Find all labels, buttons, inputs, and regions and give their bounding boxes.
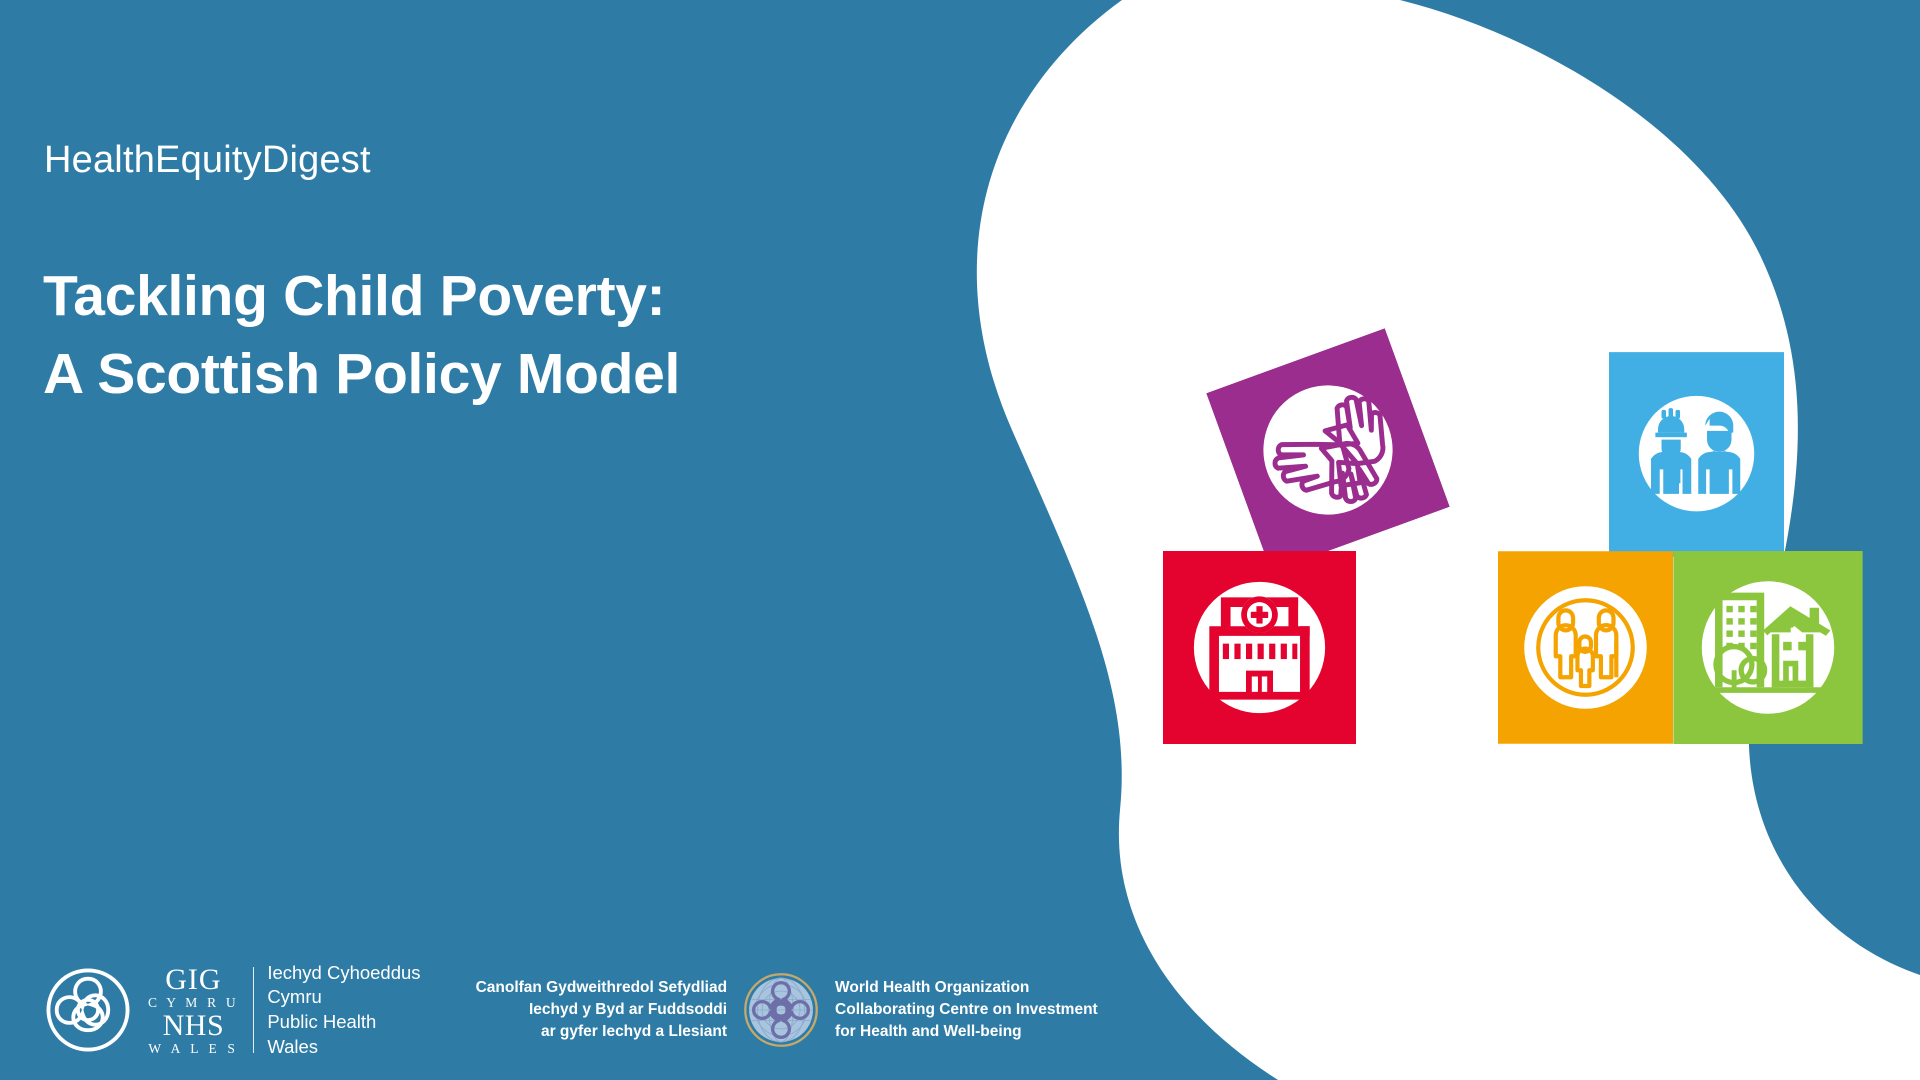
nhs-wales-knot-icon — [42, 964, 134, 1056]
whocc-en-1: World Health Organization — [835, 977, 1098, 999]
whocc-cy-2: Iechyd y Byd ar Fuddsoddi — [476, 999, 727, 1021]
whocc-cy-1: Canolfan Gydweithredol Sefydliad — [476, 977, 727, 999]
who-collaborating-centre-logo: Canolfan Gydweithredol Sefydliad Iechyd … — [476, 972, 1098, 1048]
public-health-wales-logo: GIG C Y M R U NHS W A L E S Iechyd Cyhoe… — [42, 961, 421, 1059]
whocc-cy-3: ar gyfer Iechyd a Llesiant — [476, 1021, 727, 1043]
buildings-house-tree-icon — [1673, 551, 1863, 744]
page-title-line-2: A Scottish Policy Model — [43, 336, 680, 414]
gig-nhs-wordmark: GIG C Y M R U NHS W A L E S — [148, 965, 239, 1056]
footer-logo-strip: GIG C Y M R U NHS W A L E S Iechyd Cyhoe… — [0, 940, 1100, 1080]
hospital-icon — [1163, 551, 1356, 744]
whocc-name-english: World Health Organization Collaborating … — [835, 977, 1098, 1043]
phw-name-en-1: Public Health — [267, 1010, 420, 1035]
slide-root: HealthEquityDigest Tackling Child Povert… — [0, 0, 1920, 1080]
family-group-icon — [1498, 551, 1673, 744]
whocc-en-2: Collaborating Centre on Investment — [835, 999, 1098, 1021]
whocc-name-welsh: Canolfan Gydweithredol Sefydliad Iechyd … — [476, 977, 727, 1043]
two-workers-icon — [1609, 352, 1784, 557]
public-health-wales-name: Iechyd Cyhoeddus Cymru Public Health Wal… — [267, 961, 420, 1059]
cymru-word: C Y M R U — [148, 996, 239, 1010]
page-title-line-1: Tackling Child Poverty: — [43, 258, 680, 336]
page-title: Tackling Child Poverty: A Scottish Polic… — [43, 258, 680, 413]
wales-word: W A L E S — [148, 1042, 239, 1056]
nhs-word: NHS — [148, 1011, 239, 1041]
phw-name-cy-1: Iechyd Cyhoeddus — [267, 961, 420, 986]
tile-workforce[interactable] — [1609, 352, 1784, 557]
tile-housing[interactable] — [1673, 551, 1863, 744]
gig-word: GIG — [148, 965, 239, 995]
logo-divider — [253, 967, 255, 1053]
phw-name-cy-2: Cymru — [267, 985, 420, 1010]
who-cc-emblem-icon — [743, 972, 819, 1048]
whocc-en-3: for Health and Well-being — [835, 1021, 1098, 1043]
tile-healthcare[interactable] — [1163, 551, 1356, 744]
phw-name-en-2: Wales — [267, 1035, 420, 1060]
eyebrow-label: HealthEquityDigest — [44, 139, 371, 182]
tile-family[interactable] — [1498, 551, 1673, 744]
